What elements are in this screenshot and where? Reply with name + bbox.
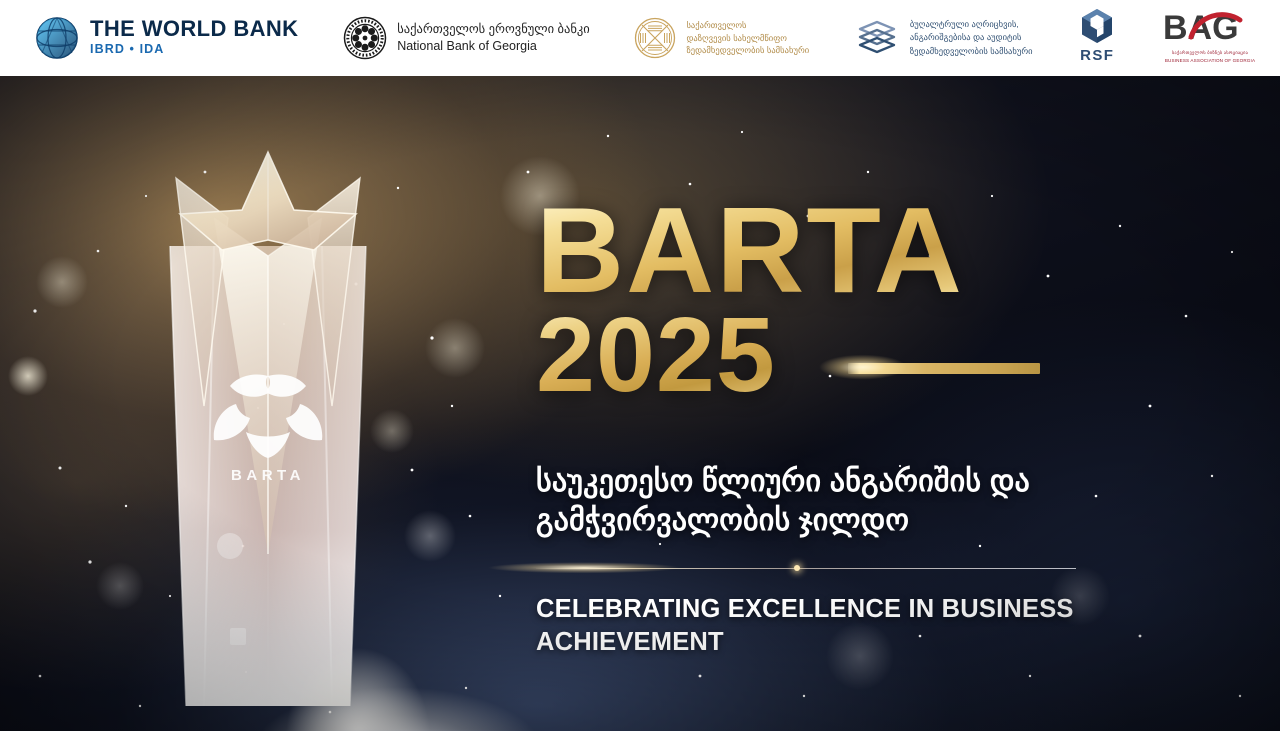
logo-national-bank-of-georgia[interactable]: საქართველოს ეროვნული ბანკი National Bank…	[343, 7, 590, 69]
logo-rsf[interactable]: RSF	[1077, 7, 1117, 69]
tagline-ka-line-1: საუკეთესო წლიური ანგარიშის და	[536, 462, 1236, 502]
world-bank-name: THE WORLD BANK	[90, 16, 298, 41]
trophy-emblem-label: BARTA	[231, 467, 305, 484]
logo-iss-text: საქართველოს დაზღვევის სახელმწიფო ზედამხე…	[686, 19, 809, 57]
saras-line-3: ზედამხედველობის სამსახური	[910, 45, 1033, 58]
logo-world-bank[interactable]: THE WORLD BANK IBRD • IDA	[34, 7, 298, 69]
gold-accent-bar	[848, 363, 1040, 374]
logo-business-association-of-georgia[interactable]: BAG საქართველოს ბიზნეს ასოციაცია BUSINES…	[1162, 7, 1258, 69]
iss-line-1: საქართველოს	[686, 19, 809, 32]
nbg-name-ka: საქართველოს ეროვნული ბანკი	[397, 21, 590, 38]
hero-title: BARTA	[536, 194, 964, 306]
saras-line-2: ანგარიშგებისა და აუდიტის	[910, 31, 1033, 44]
rsf-label: RSF	[1080, 47, 1114, 64]
world-bank-subtitle: IBRD • IDA	[90, 42, 298, 58]
tagline-ka-line-2: გამჭვირვალობის ჯილდო	[536, 501, 1236, 541]
iss-line-2: დაზღვევის სახელმწიფო	[686, 32, 809, 45]
divider-dot	[794, 565, 800, 571]
hero-year-row: 2025	[536, 306, 1236, 411]
circular-emblem-icon	[634, 17, 676, 59]
hero-year: 2025	[536, 300, 776, 411]
logo-saras[interactable]: ბუღალტრული აღრიცხვის, ანგარიშგებისა და ა…	[854, 7, 1033, 69]
bag-subtitle-en: BUSINESS ASSOCIATION OF GEORGIA	[1165, 58, 1255, 65]
star-trophy-icon: BARTA	[118, 146, 418, 726]
globe-icon	[34, 15, 80, 61]
hero-divider	[536, 555, 1076, 583]
bag-subtitle-ka: საქართველოს ბიზნეს ასოციაცია	[1172, 50, 1248, 57]
seal-rosette-icon	[343, 16, 387, 60]
tagline-en-line-2: ACHIEVEMENT	[536, 626, 1236, 659]
nbg-name-en: National Bank of Georgia	[397, 38, 590, 55]
cube-icon	[1077, 7, 1117, 45]
hero-title-wrap: BARTA	[536, 194, 1236, 306]
bag-swoosh-icon: BAG	[1162, 7, 1258, 49]
logo-insurance-supervision-service[interactable]: საქართველოს დაზღვევის სახელმწიფო ზედამხე…	[634, 7, 809, 69]
divider-flare	[440, 549, 740, 583]
hero-tagline-en: CELEBRATING EXCELLENCE IN BUSINESS ACHIE…	[536, 593, 1236, 659]
partner-logo-bar: THE WORLD BANK IBRD • IDA	[0, 0, 1280, 76]
hero-copy: BARTA 2025 საუკეთესო წლიური ანგარიშის და…	[536, 194, 1236, 659]
saras-line-1: ბუღალტრული აღრიცხვის,	[910, 18, 1033, 31]
hero-tagline-ka: საუკეთესო წლიური ანგარიშის და გამჭვირვალ…	[536, 462, 1236, 541]
stacked-layers-icon	[854, 18, 900, 58]
hero-banner: BARTA BARTA 2025 საუკეთესო წლიური ანგარი…	[0, 76, 1280, 731]
logo-nbg-text: საქართველოს ეროვნული ბანკი National Bank…	[397, 21, 590, 55]
tagline-en-line-1: CELEBRATING EXCELLENCE IN BUSINESS	[536, 593, 1236, 626]
logo-saras-text: ბუღალტრული აღრიცხვის, ანგარიშგებისა და ა…	[910, 18, 1033, 57]
logo-world-bank-text: THE WORLD BANK IBRD • IDA	[90, 18, 298, 58]
iss-line-3: ზედამხედველობის სამსახური	[686, 44, 809, 57]
trophy: BARTA	[118, 146, 418, 726]
